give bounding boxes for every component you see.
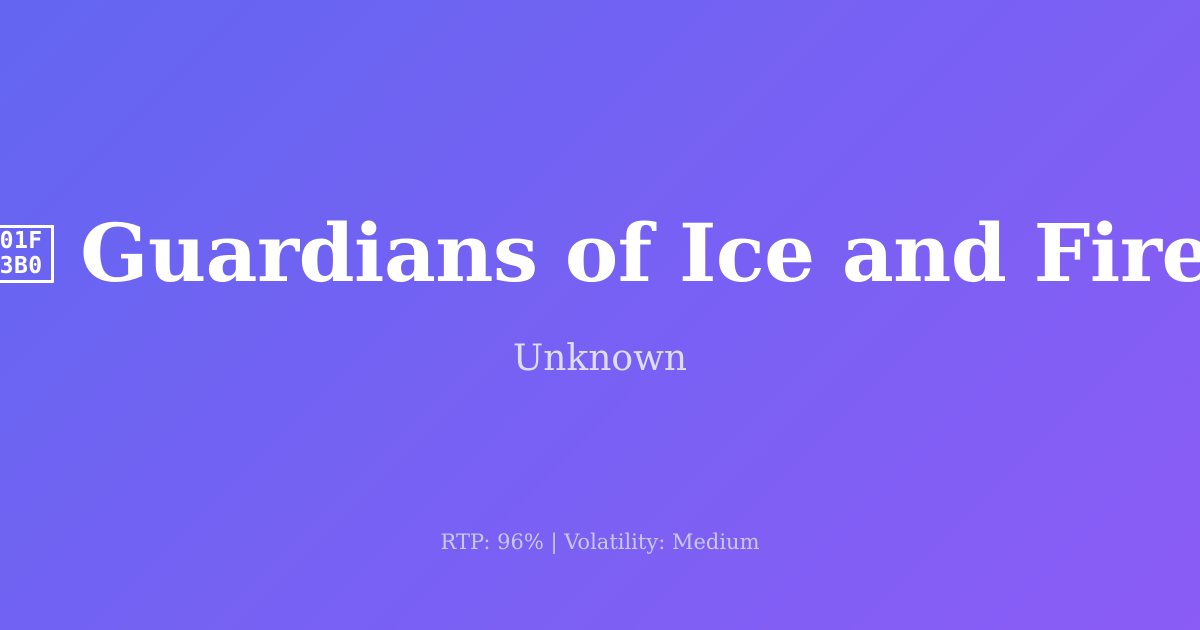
- og-share-card: 01F 3B0 Guardians of Ice and Fire Unknow…: [0, 0, 1200, 630]
- title-row: 01F 3B0 Guardians of Ice and Fire: [0, 212, 1200, 295]
- hero-block: 01F 3B0 Guardians of Ice and Fire Unknow…: [0, 212, 1200, 380]
- tofu-codepoint-line-bottom: 3B0: [0, 254, 43, 279]
- page-subtitle: Unknown: [513, 337, 687, 380]
- slot-machine-emoji-tofu-icon: 01F 3B0: [0, 225, 54, 283]
- footer: RTP: 96% | Volatility: Medium: [0, 529, 1200, 555]
- tofu-codepoint-line-top: 01F: [0, 229, 43, 254]
- game-meta-line: RTP: 96% | Volatility: Medium: [441, 529, 760, 555]
- page-title: Guardians of Ice and Fire: [80, 212, 1200, 295]
